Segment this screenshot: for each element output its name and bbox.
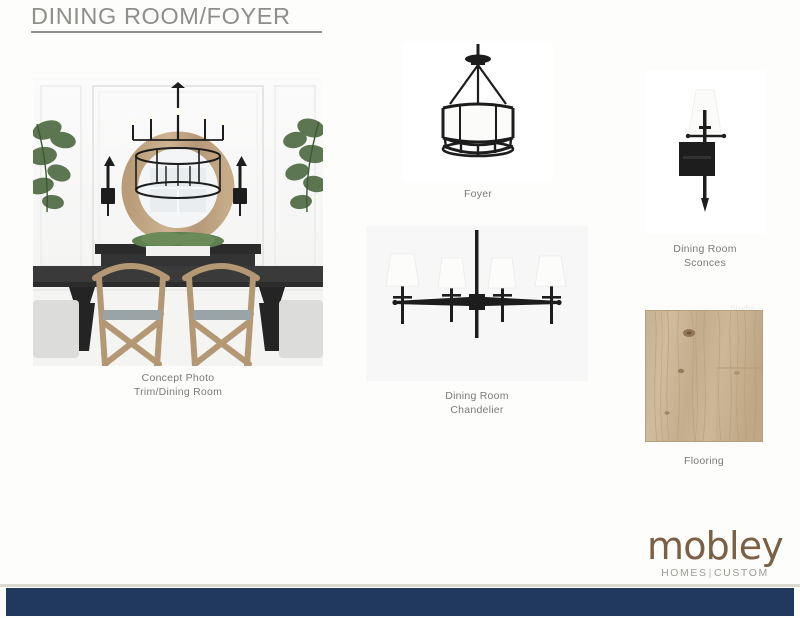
logo-tagline: HOMES|CUSTOM [645,567,785,579]
flooring-sample-image [645,310,763,442]
foyer-drum-pendant-illustration [403,42,553,182]
wood-flooring-illustration [645,310,763,442]
mobley-logo: mobley HOMES|CUSTOM [645,527,785,579]
design-board-page: DINING ROOM/FOYER [0,0,800,618]
page-title-block: DINING ROOM/FOYER [31,2,331,33]
foyer-pendant-image [403,42,553,182]
concept-photo-image [33,78,323,366]
dining-room-concept-illustration [33,78,323,366]
chandelier-caption: Dining Room Chandelier [366,390,588,417]
page-title: DINING ROOM/FOYER [31,2,331,30]
footer-separator [0,584,800,587]
dining-room-chandelier-illustration [366,226,588,381]
sconce-image [645,70,765,234]
foyer-caption: Foyer [403,188,553,202]
sconce-caption: Dining Room Sconces [645,243,765,270]
chandelier-image [366,226,588,381]
title-underline [31,31,322,33]
concept-photo-caption: Concept Photo Trim/Dining Room [33,372,323,399]
logo-wordmark: mobley [645,527,785,565]
footer-bar [6,588,794,616]
logo-tagline-homes: HOMES [661,567,708,579]
flooring-caption: Flooring [645,455,763,469]
dining-room-sconce-illustration [645,70,765,234]
logo-tagline-custom: CUSTOM [714,567,769,579]
